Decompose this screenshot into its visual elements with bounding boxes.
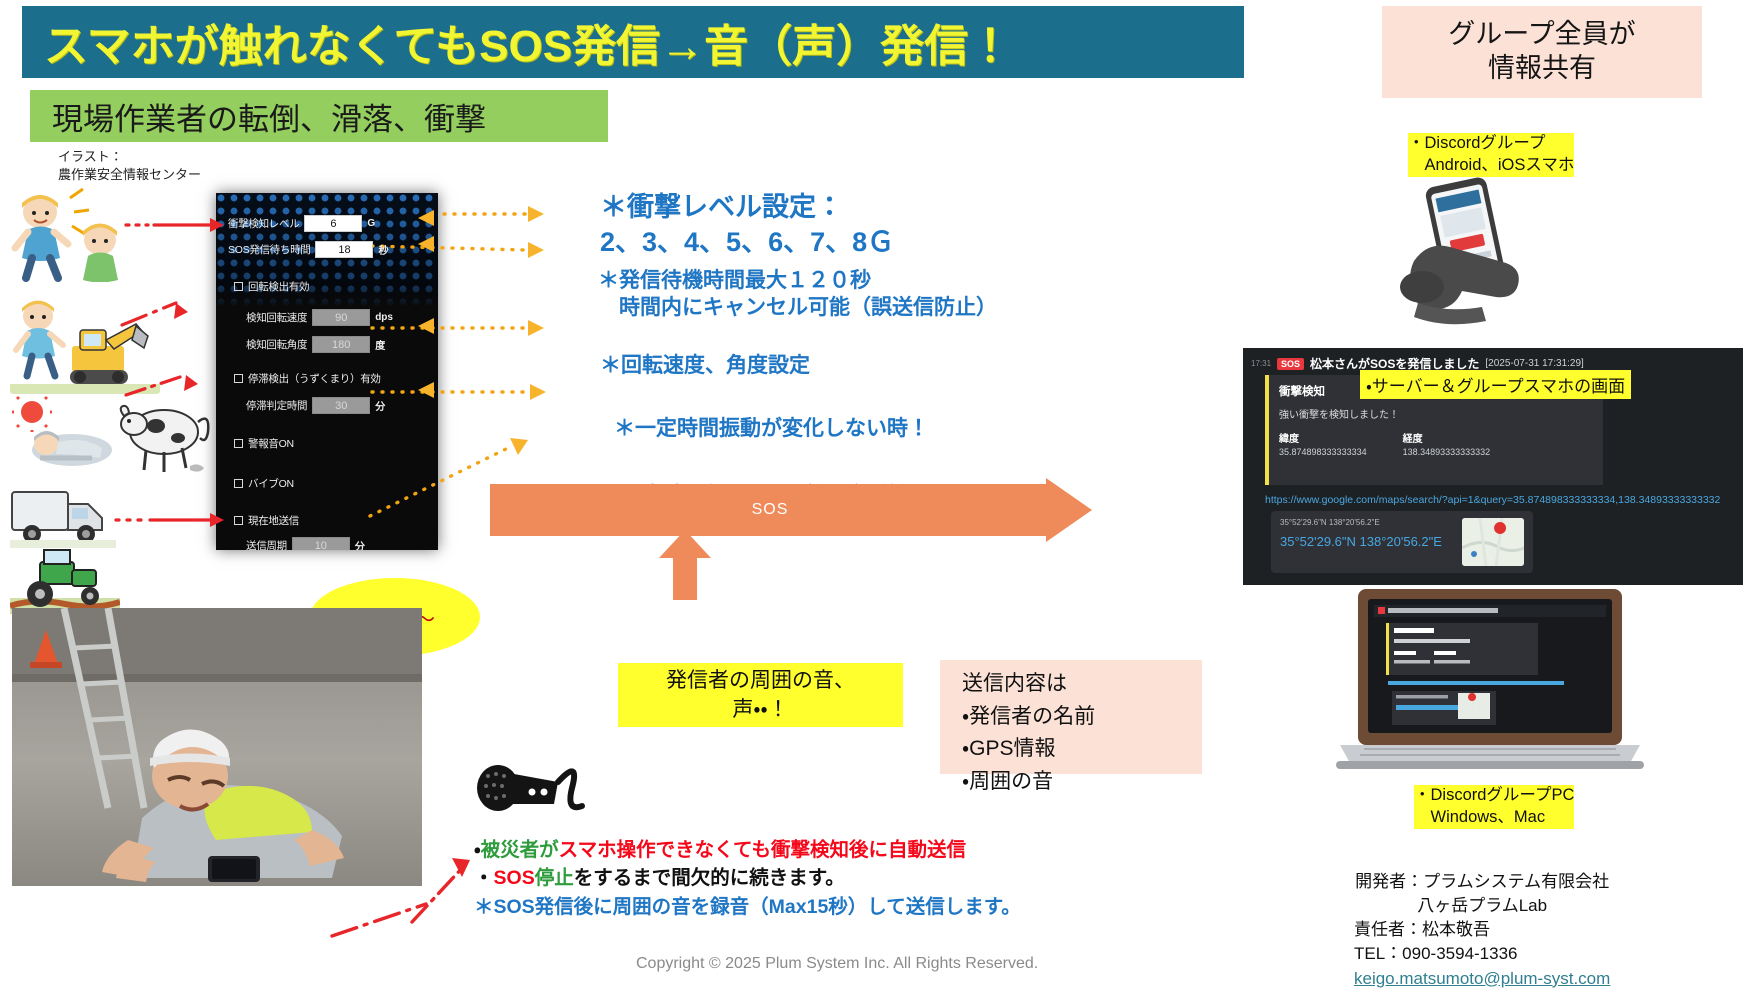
setting-label-sos-wait: SOS発信待ち時間	[228, 242, 310, 257]
setting-row-send-interval[interactable]: 送信周期 10 分	[246, 537, 365, 550]
checkbox-label-rotation: 回転検出有効	[248, 279, 309, 294]
note-stagnation: ＊一定時間振動が変化しない時！	[614, 416, 929, 443]
checkbox-icon-vibration[interactable]	[234, 479, 243, 488]
developer-line-1: 開発者：プラムシステム有限会社	[1354, 870, 1610, 894]
checkbox-icon-location[interactable]	[234, 516, 243, 525]
discord-timestamp-left: 17:31	[1251, 359, 1271, 368]
embed-description: 強い衝撃を検知しました！	[1279, 406, 1593, 421]
illustration-truck	[10, 480, 116, 552]
bottom-statements: ・被災者がスマホ操作できなくても衝撃検知後に自動送信 ・SOS停止をするまで間欠…	[474, 836, 1021, 921]
setting-input-rotation-speed[interactable]: 90	[312, 309, 370, 326]
illustration-credit: イラスト： 農作業安全情報センター	[58, 148, 201, 183]
title-banner: スマホが触れなくてもSOS発信→音（声）発信！	[22, 6, 1244, 78]
embed-lon-value: 138.34893333333332	[1403, 447, 1491, 457]
callout-mic-audio: 発信者の周囲の音、 声・・！	[618, 663, 903, 727]
setting-checkbox-stagnation-enable[interactable]: 停滞検出（うずくまり）有効	[234, 371, 381, 386]
setting-unit-send-interval: 分	[355, 538, 365, 550]
bottom-line-2-green: 停止	[535, 867, 574, 889]
setting-input-send-interval[interactable]: 10	[292, 537, 350, 550]
discord-map-card[interactable]: 35°52'29.6"N 138°20'56.2"E 35°52'29.6"N …	[1271, 511, 1533, 573]
map-thumbnail[interactable]	[1462, 518, 1524, 566]
setting-checkbox-rotation-enable[interactable]: 回転検出有効	[234, 279, 309, 294]
bottom-line-2: ・SOS停止をするまで間欠的に続きます。	[474, 864, 1021, 892]
tel-line: TEL：090-3594-1336	[1354, 942, 1610, 966]
discord-pc-label: ・DiscordグループPC Windows、Mac	[1414, 785, 1574, 829]
setting-label-stagnation-time: 停滞判定時間	[246, 398, 307, 413]
embed-lat-value: 35.874898333333334	[1279, 447, 1367, 457]
checkbox-label-vibration: バイブON	[248, 476, 294, 491]
discord-headline-time: [2025-07-31 17:31:29]	[1485, 358, 1583, 369]
checkbox-label-alarm: 警報音ON	[248, 436, 294, 451]
contact-block: 開発者：プラムシステム有限会社 八ヶ岳プラムLab 責任者：松本敬吾 TEL：0…	[1354, 870, 1610, 991]
group-share-box: グループ全員が 情報共有	[1382, 6, 1702, 98]
checkbox-icon-stagnation[interactable]	[234, 374, 243, 383]
orange-arrowheads-panel-edge	[418, 206, 458, 406]
laptop-illustration	[1330, 585, 1650, 785]
sos-arrow-body: SOS	[490, 484, 1050, 536]
setting-row-rotation-angle[interactable]: 検知回転角度 180 度	[246, 336, 385, 353]
setting-row-stagnation-time[interactable]: 停滞判定時間 30 分	[246, 397, 385, 414]
hand-holding-phone-icon	[1374, 175, 1564, 345]
setting-label-rotation-angle: 検知回転角度	[246, 337, 307, 352]
microphone-icon	[470, 752, 600, 822]
setting-unit-rotation-speed: dps	[375, 312, 393, 323]
setting-input-shock-level[interactable]: 6	[304, 215, 362, 232]
note-wait-time: ＊発信待機時間最大１２０秒 時間内にキャンセル可能（誤送信防止）	[598, 268, 997, 322]
note-shock-level: ＊衝撃レベル設定： 2、3、4、5、6、7、8Ｇ	[600, 190, 894, 259]
setting-row-shock-level[interactable]: 衝撃検知レベル 6 G	[228, 215, 375, 232]
setting-label-shock-level: 衝撃検知レベル	[228, 216, 299, 231]
embed-coord-columns: 緯度 35.874898333333334 経度 138.34893333333…	[1279, 430, 1593, 457]
setting-checkbox-alarm-sound[interactable]: 警報音ON	[234, 436, 294, 451]
bottom-line-1: ・被災者がスマホ操作できなくても衝撃検知後に自動送信	[474, 836, 1021, 864]
sos-flow-arrow: SOS	[490, 484, 1090, 536]
checkbox-label-location: 現在地送信	[248, 513, 299, 528]
bottom-line-2-red: SOS	[494, 867, 535, 889]
embed-lon-col: 経度 138.34893333333332	[1403, 430, 1491, 457]
red-arrow-from-phone	[330, 890, 450, 950]
discord-mobile-label: ・Discordグループ Android、iOSスマホ	[1408, 133, 1574, 177]
photo-fallen-worker	[12, 608, 422, 886]
bottom-line-1-red: スマホ操作できなくても衝撃検知後に自動送信	[559, 839, 966, 861]
setting-label-rotation-speed: 検知回転速度	[246, 310, 307, 325]
developer-line-2: 八ヶ岳プラムLab	[1354, 894, 1610, 918]
bottom-line-1-green: 被災者が	[481, 839, 559, 861]
note-rotation: ＊回転速度、角度設定	[600, 353, 810, 380]
embed-lon-header: 経度	[1403, 430, 1491, 445]
page-title: スマホが触れなくてもSOS発信→音（声）発信！	[44, 10, 1012, 74]
embed-lat-header: 緯度	[1279, 430, 1367, 445]
group-share-line2: 情報共有	[1488, 52, 1596, 86]
setting-input-stagnation-time[interactable]: 30	[312, 397, 370, 414]
sos-arrow-label: SOS	[752, 501, 789, 519]
callout-send-contents: 送信内容は ・発信者の名前 ・GPS情報 ・周囲の音	[940, 660, 1202, 774]
setting-label-send-interval: 送信周期	[246, 538, 287, 550]
page-subtitle: 現場作業者の転倒、滑落、衝撃	[52, 94, 486, 139]
setting-row-rotation-speed[interactable]: 検知回転速度 90 dps	[246, 309, 393, 326]
setting-input-sos-wait[interactable]: 18	[315, 241, 373, 258]
sos-arrow-tip	[1046, 478, 1092, 542]
embed-lat-col: 緯度 35.874898333333334	[1279, 430, 1367, 457]
bottom-line-2-black: をするまで間欠的に続きます。	[574, 867, 845, 889]
setting-unit-sos-wait: 秒	[378, 242, 388, 257]
checkbox-label-stagnation: 停滞検出（うずくまり）有効	[248, 371, 381, 386]
checkbox-icon-rotation[interactable]	[234, 282, 243, 291]
subtitle-banner: 現場作業者の転倒、滑落、衝撃	[30, 90, 608, 142]
map-card-big-coords: 35°52'29.6"N 138°20'56.2"E	[1280, 534, 1454, 549]
setting-unit-shock-level: G	[367, 218, 375, 229]
manager-line: 責任者：松本敬吾	[1354, 918, 1610, 942]
group-share-line1: グループ全員が	[1448, 18, 1635, 52]
bottom-line-3-blue: ＊SOS発信後に周囲の音を録音（Max15秒）して送信します。	[474, 896, 1021, 918]
email-link[interactable]: keigo.matsumoto@plum-syst.com	[1354, 969, 1610, 988]
setting-checkbox-location-send[interactable]: 現在地送信	[234, 513, 299, 528]
upward-arrow-icon	[655, 530, 715, 600]
setting-input-rotation-angle[interactable]: 180	[312, 336, 370, 353]
server-screen-label: ・サーバー＆グループスマホの画面	[1360, 370, 1631, 399]
setting-checkbox-vibration[interactable]: バイブON	[234, 476, 294, 491]
map-card-small-coords: 35°52'29.6"N 138°20'56.2"E	[1280, 518, 1454, 527]
bottom-line-3: ＊SOS発信後に周囲の音を録音（Max15秒）して送信します。	[474, 893, 1021, 921]
illustration-tractor	[10, 544, 120, 618]
copyright-text: Copyright © 2025 Plum System Inc. All Ri…	[636, 955, 1038, 973]
setting-row-sos-wait[interactable]: SOS発信待ち時間 18 秒	[228, 241, 388, 258]
slide-root: スマホが触れなくてもSOS発信→音（声）発信！ 現場作業者の転倒、滑落、衝撃 イ…	[0, 0, 1760, 996]
sos-badge: SOS	[1277, 358, 1304, 370]
checkbox-icon-alarm[interactable]	[234, 439, 243, 448]
setting-unit-rotation-angle: 度	[375, 337, 385, 352]
discord-maps-url[interactable]: https://www.google.com/maps/search/?api=…	[1265, 494, 1720, 506]
illustration-heatstroke	[10, 392, 120, 480]
setting-unit-stagnation-time: 分	[375, 398, 385, 413]
